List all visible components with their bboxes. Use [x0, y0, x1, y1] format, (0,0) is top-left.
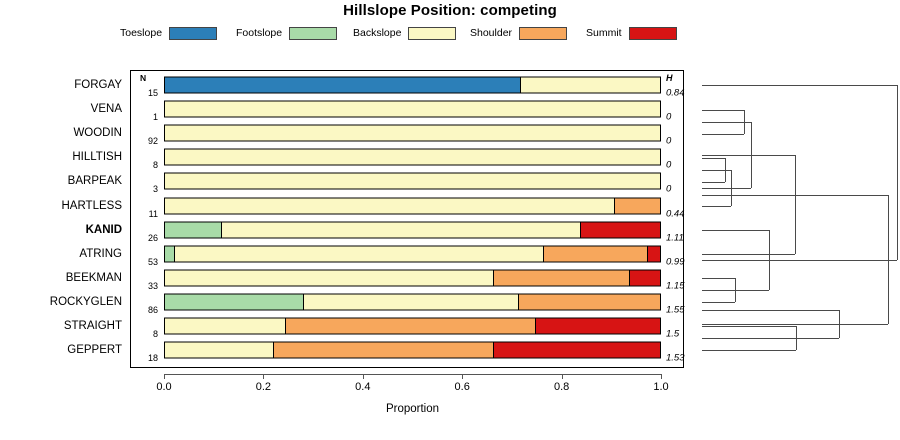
bar-segment-footslope [165, 294, 304, 309]
bar-segment-shoulder [544, 246, 648, 261]
n-value: 15 [136, 88, 158, 98]
y-axis-label-forgay: FORGAY [74, 79, 122, 91]
n-value: 1 [136, 112, 158, 122]
page-title: Hillslope Position: competing [0, 2, 900, 19]
dendrogram-link [702, 254, 795, 255]
dendrogram-link [702, 278, 735, 279]
n-value: 8 [136, 329, 158, 339]
dendrogram-link [897, 85, 898, 260]
stacked-bar-woodin[interactable] [164, 125, 661, 142]
stacked-bar-straight[interactable] [164, 318, 661, 335]
n-value: 8 [136, 160, 158, 170]
h-value: 1.55 [666, 304, 685, 315]
legend-swatch-backslope-icon [408, 27, 456, 40]
dendrogram-link [702, 122, 751, 123]
n-value: 11 [136, 209, 158, 219]
y-axis-label-hilltish: HILLTISH [72, 151, 122, 163]
dendrogram-link [702, 158, 725, 159]
x-axis-line [164, 374, 661, 375]
bar-segment-backslope [165, 319, 286, 334]
stacked-bar-hartless[interactable] [164, 197, 661, 214]
bar-segment-shoulder [286, 319, 536, 334]
x-axis-tick [263, 374, 264, 379]
bar-segment-shoulder [494, 270, 630, 285]
x-axis-tick [164, 374, 165, 379]
legend-label: Toeslope [120, 27, 162, 39]
dendrogram-link [702, 230, 769, 231]
bar-segment-backslope [165, 126, 660, 141]
stacked-bar-barpeak[interactable] [164, 173, 661, 190]
legend-item-footslope[interactable]: Footslope [236, 24, 337, 42]
y-axis-label-hartless: HARTLESS [61, 200, 122, 212]
dendrogram-link [702, 338, 839, 339]
n-column-header: N [140, 73, 146, 83]
h-value: 1.11 [666, 232, 684, 243]
dendrogram-link [702, 85, 897, 86]
h-value: 0.84 [666, 88, 685, 99]
dendrogram-link [702, 260, 897, 261]
y-axis-label-atring: ATRING [79, 248, 122, 260]
dendrogram-link [702, 310, 839, 311]
y-axis-labels: FORGAYVENAWOODINHILLTISHBARPEAKHARTLESSK… [0, 70, 126, 368]
h-value: 1.53 [666, 353, 685, 364]
bar-segment-summit [630, 270, 660, 285]
bar-segment-backslope [175, 246, 544, 261]
legend-label: Summit [586, 27, 622, 39]
dendrogram-link [702, 134, 744, 135]
h-value: 1.5 [666, 329, 679, 340]
bar-segment-summit [648, 246, 660, 261]
bar-segment-backslope [521, 78, 660, 93]
n-value: 26 [136, 233, 158, 243]
bar-segment-backslope [222, 222, 581, 237]
x-axis-tick [661, 374, 662, 379]
dendrogram-link [702, 290, 769, 291]
legend-label: Footslope [236, 27, 282, 39]
dendrogram-link [702, 170, 731, 171]
x-axis-tick-label: 0.4 [355, 381, 370, 393]
legend-swatch-summit-icon [629, 27, 677, 40]
legend-swatch-shoulder-icon [519, 27, 567, 40]
bar-segment-toeslope [165, 78, 521, 93]
y-axis-label-vena: VENA [91, 103, 122, 115]
y-axis-label-beekman: BEEKMAN [66, 272, 122, 284]
x-axis-tick-label: 0.0 [156, 381, 171, 393]
dendrogram-link [702, 302, 735, 303]
bar-segment-footslope [165, 222, 222, 237]
stacked-bar-forgay[interactable] [164, 77, 661, 94]
dendrogram-link [702, 206, 731, 207]
y-axis-label-barpeak: BARPEAK [68, 175, 122, 187]
bar-segment-summit [581, 222, 660, 237]
dendrogram-link [702, 350, 796, 351]
bar-segment-summit [494, 343, 660, 358]
h-value: 0 [666, 136, 671, 147]
h-value: 0.99 [666, 256, 685, 267]
y-axis-label-kanid: KANID [86, 224, 122, 236]
y-axis-label-geppert: GEPPERT [67, 344, 122, 356]
dendrogram-link [702, 155, 795, 156]
dendrogram-link [702, 110, 744, 111]
bar-segment-shoulder [274, 343, 494, 358]
x-axis-tick [363, 374, 364, 379]
dendrogram [690, 60, 900, 380]
n-value: 92 [136, 136, 158, 146]
x-axis-tick [462, 374, 463, 379]
h-value: 0 [666, 184, 671, 195]
n-value: 33 [136, 281, 158, 291]
legend-item-toeslope[interactable]: Toeslope [120, 24, 217, 42]
stacked-bar-beekman[interactable] [164, 269, 661, 286]
legend-swatch-toeslope-icon [169, 27, 217, 40]
legend-item-shoulder[interactable]: Shoulder [470, 24, 567, 42]
n-value: 86 [136, 305, 158, 315]
bar-segment-backslope [165, 102, 660, 117]
bar-segment-backslope [165, 198, 615, 213]
n-value: 18 [136, 353, 158, 363]
bar-segment-shoulder [615, 198, 660, 213]
legend-item-backslope[interactable]: Backslope [353, 24, 456, 42]
bar-segment-shoulder [519, 294, 660, 309]
bar-segment-footslope [165, 246, 175, 261]
stacked-bar-hilltish[interactable] [164, 149, 661, 166]
stacked-bar-atring[interactable] [164, 245, 661, 262]
dendrogram-link [795, 155, 796, 254]
legend-label: Shoulder [470, 27, 512, 39]
stacked-bar-geppert[interactable] [164, 342, 661, 359]
stacked-bar-kanid[interactable] [164, 221, 661, 238]
n-value: 53 [136, 257, 158, 267]
dendrogram-link [702, 182, 725, 183]
bar-segment-backslope [165, 150, 660, 165]
x-axis-tick [562, 374, 563, 379]
h-column-header: H [666, 73, 673, 83]
dendrogram-link [702, 326, 796, 327]
bar-segment-summit [536, 319, 660, 334]
n-value: 3 [136, 184, 158, 194]
h-value: 1.15 [666, 280, 685, 291]
h-value: 0 [666, 160, 671, 171]
x-axis-tick-label: 0.2 [256, 381, 271, 393]
x-axis-title: Proportion [386, 403, 439, 415]
bar-segment-backslope [304, 294, 519, 309]
bar-segment-backslope [165, 174, 660, 189]
bar-segment-backslope [165, 343, 274, 358]
stacked-bar-vena[interactable] [164, 101, 661, 118]
x-axis-tick-label: 0.8 [554, 381, 569, 393]
y-axis-label-straight: STRAIGHT [64, 320, 122, 332]
h-value: 0 [666, 112, 671, 123]
dendrogram-link [702, 195, 888, 196]
legend-label: Backslope [353, 27, 401, 39]
bar-segment-backslope [165, 270, 494, 285]
h-value: 0.44 [666, 208, 685, 219]
legend-swatch-footslope-icon [289, 27, 337, 40]
dendrogram-link [702, 188, 751, 189]
plot-root: Hillslope Position: competing ToeslopeFo… [0, 0, 900, 440]
y-axis-label-rockyglen: ROCKYGLEN [50, 296, 122, 308]
x-axis-tick-label: 0.6 [455, 381, 470, 393]
stacked-bar-rockyglen[interactable] [164, 293, 661, 310]
y-axis-label-woodin: WOODIN [73, 127, 122, 139]
legend-item-summit[interactable]: Summit [586, 24, 677, 42]
dendrogram-link [702, 324, 888, 325]
legend: ToeslopeFootslopeBackslopeShoulderSummit [0, 24, 900, 42]
x-axis-tick-label: 1.0 [653, 381, 668, 393]
